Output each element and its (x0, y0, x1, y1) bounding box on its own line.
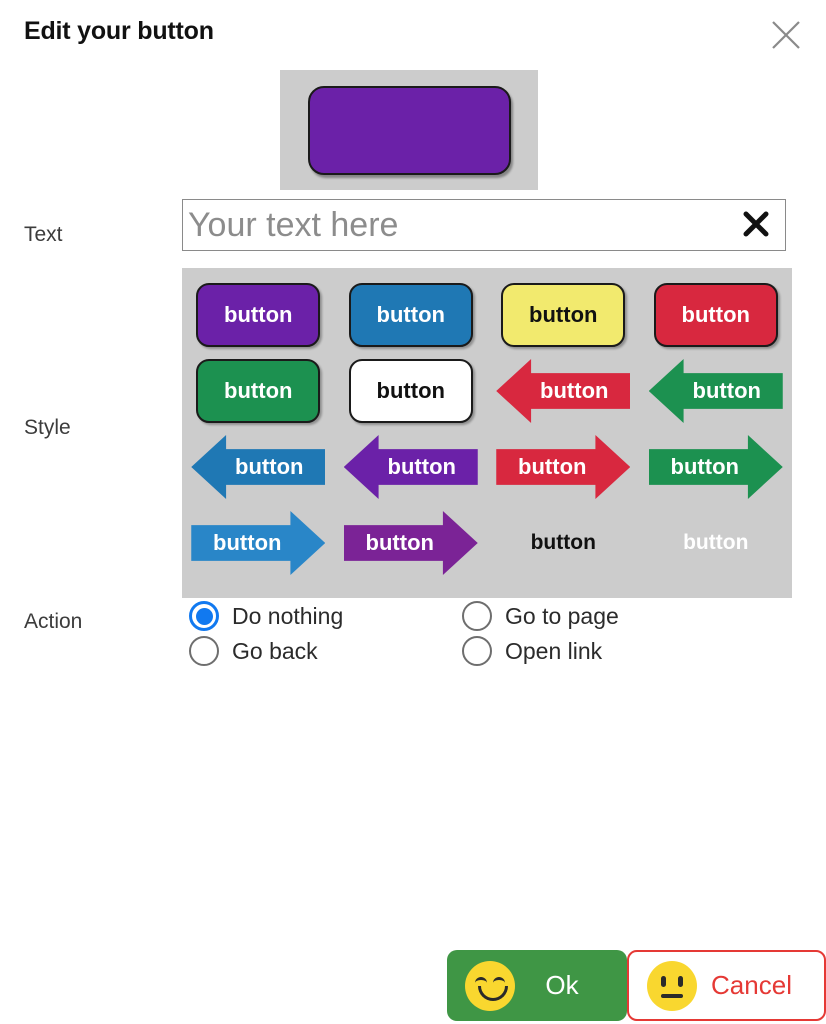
radio-label: Do nothing (232, 603, 343, 630)
style-swatch-white-rounded[interactable]: button (335, 353, 488, 429)
button-preview-panel (280, 70, 538, 190)
cancel-button[interactable]: Cancel (627, 950, 826, 1021)
style-swatch-purple-arrow-left[interactable]: button (335, 429, 488, 505)
button-text-input[interactable] (183, 200, 727, 250)
radio-dot-icon[interactable] (189, 636, 219, 666)
clear-icon (741, 209, 771, 242)
style-swatch-plain-white-text[interactable]: button (640, 505, 793, 581)
radio-label: Open link (505, 638, 602, 665)
style-swatch-green-rounded[interactable]: button (182, 353, 335, 429)
style-swatch-yellow-rounded[interactable]: button (487, 277, 640, 353)
footer-actions: Ok Cancel (0, 950, 826, 1024)
style-swatch-label: button (349, 283, 473, 347)
style-swatch-blue-arrow-right[interactable]: button (182, 505, 335, 581)
style-swatch-green-arrow-right[interactable]: button (640, 429, 793, 505)
close-button[interactable] (764, 13, 808, 57)
style-swatch-label: button (496, 435, 630, 499)
text-row-label: Text (24, 223, 63, 247)
style-swatch-label: button (191, 511, 325, 575)
radio-option-go-to-page[interactable]: Go to page (462, 601, 619, 631)
smiling-face-emoji (465, 961, 515, 1011)
style-swatch-purple-arrow-right[interactable]: button (335, 505, 488, 581)
style-row: buttonbuttonbuttonbutton (182, 429, 792, 505)
clear-text-button[interactable] (727, 200, 785, 250)
style-row: buttonbuttonbuttonbutton (182, 353, 792, 429)
style-row: buttonbuttonbuttonbutton (182, 505, 792, 581)
style-swatch-label: button (649, 359, 783, 423)
style-row-label: Style (24, 416, 71, 440)
style-swatch-label: button (344, 435, 478, 499)
style-swatch-label: button (501, 283, 625, 347)
style-swatch-label: button (649, 435, 783, 499)
radio-option-open-link[interactable]: Open link (462, 636, 602, 666)
radio-option-do-nothing[interactable]: Do nothing (189, 601, 343, 631)
style-swatch-red-rounded[interactable]: button (640, 277, 793, 353)
style-swatch-label: button (196, 359, 320, 423)
close-icon (769, 18, 803, 52)
action-row-label: Action (24, 610, 82, 634)
radio-option-go-back[interactable]: Go back (189, 636, 318, 666)
radio-dot-icon[interactable] (189, 601, 219, 631)
cancel-button-label: Cancel (697, 970, 806, 1001)
style-swatch-label: button (349, 359, 473, 423)
style-row: buttonbuttonbuttonbutton (182, 277, 792, 353)
dialog-header: Edit your button (0, 0, 826, 68)
style-swatch-label: button (531, 531, 596, 555)
style-swatch-blue-arrow-left[interactable]: button (182, 429, 335, 505)
radio-dot-icon[interactable] (462, 636, 492, 666)
style-swatch-plain-black-text[interactable]: button (487, 505, 640, 581)
style-swatch-green-arrow-left[interactable]: button (640, 353, 793, 429)
style-swatch-label: button (683, 531, 748, 555)
ok-button-label: Ok (515, 970, 609, 1001)
style-swatch-label: button (191, 435, 325, 499)
radio-label: Go back (232, 638, 318, 665)
text-input-container[interactable] (182, 199, 786, 251)
preview-button (308, 86, 511, 175)
ok-button[interactable]: Ok (447, 950, 627, 1021)
neutral-face-emoji (647, 961, 697, 1011)
style-swatch-red-arrow-right[interactable]: button (487, 429, 640, 505)
style-swatch-label: button (496, 359, 630, 423)
radio-label: Go to page (505, 603, 619, 630)
style-swatch-label: button (344, 511, 478, 575)
radio-dot-icon[interactable] (462, 601, 492, 631)
style-swatch-label: button (654, 283, 778, 347)
style-picker-panel: buttonbuttonbuttonbutton buttonbuttonbut… (182, 268, 792, 598)
style-swatch-purple-rounded[interactable]: button (182, 277, 335, 353)
style-swatch-blue-rounded[interactable]: button (335, 277, 488, 353)
page-title: Edit your button (24, 17, 214, 46)
style-swatch-label: button (196, 283, 320, 347)
style-swatch-red-arrow-left[interactable]: button (487, 353, 640, 429)
action-radio-group: Do nothing Go back Go to page Open link (189, 601, 709, 679)
